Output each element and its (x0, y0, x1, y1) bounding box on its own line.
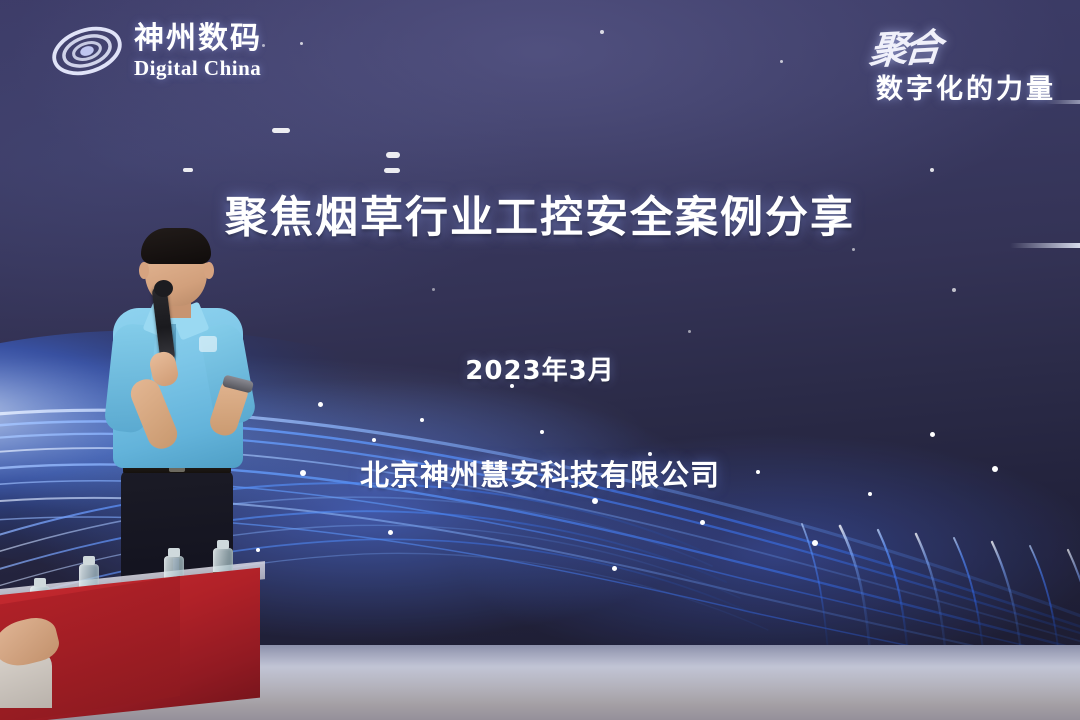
sparkle-dot (852, 248, 855, 251)
sparkle-dot (262, 44, 265, 47)
brand-name-en: Digital China (134, 58, 262, 79)
sparkle-dot (600, 30, 604, 34)
sparkle-dash (272, 128, 290, 133)
digital-china-swirl-icon (48, 18, 126, 84)
digital-china-logo: 神州数码 Digital China (48, 18, 262, 84)
bottle-cap (83, 556, 95, 565)
speaker-ear-right (204, 262, 214, 279)
conference-photo: 神州数码 Digital China 聚合 数字化的力量 聚焦烟草行业工控安全案… (0, 0, 1080, 720)
sparkle-dash (386, 152, 400, 158)
speaker-shirt-badge (199, 336, 217, 352)
sparkle-dot (952, 288, 956, 292)
sparkle-dash (384, 168, 400, 173)
speaker-ear-left (139, 262, 149, 279)
slogan-calligraphy: 聚合 (867, 16, 940, 74)
bottle-cap (217, 540, 229, 549)
sparkle-dot (780, 60, 783, 63)
sparkle-dot (930, 168, 934, 172)
speaker-hair (141, 228, 211, 264)
digital-china-wordmark: 神州数码 Digital China (134, 24, 262, 79)
brand-name-cn: 神州数码 (134, 24, 262, 54)
sparkle-dot (300, 42, 303, 45)
bottle-cap (34, 578, 46, 587)
sparkle-dot (432, 288, 435, 291)
sparkle-dash (183, 168, 193, 172)
bottle-cap (168, 548, 180, 557)
event-slogan: 聚合 数字化的力量 (870, 18, 1056, 106)
